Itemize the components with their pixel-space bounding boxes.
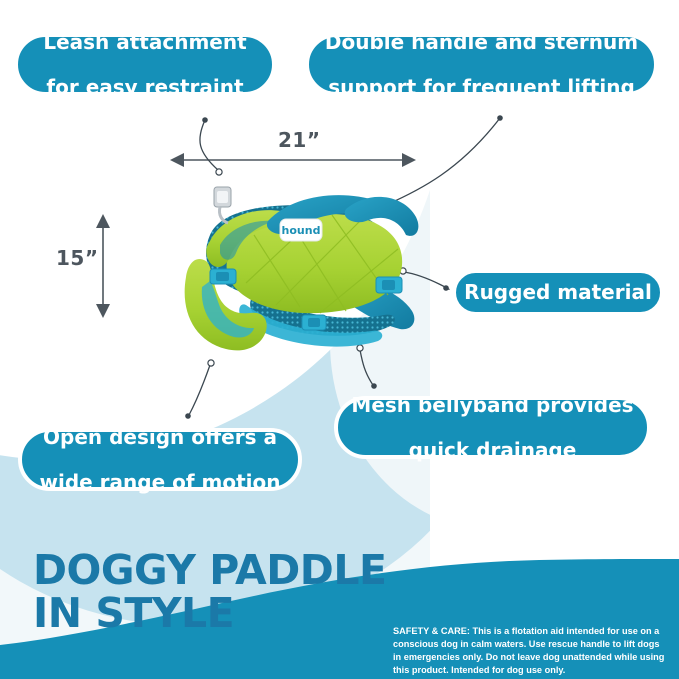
callout-mesh-line2: quick drainage xyxy=(345,439,639,461)
callout-mesh-line1: Mesh bellyband provides xyxy=(345,394,639,416)
callout-open-line2: wide range of motion xyxy=(34,471,287,493)
callout-double-handle[interactable]: Double handle and sternum support for fr… xyxy=(305,33,658,96)
callout-rugged-material[interactable]: Rugged material xyxy=(452,269,664,316)
callout-leash-line1: Leash attachment xyxy=(37,31,252,53)
headline-line2: IN STYLE xyxy=(33,592,386,635)
product-buckle-left xyxy=(210,269,236,284)
callout-open-line1: Open design offers a xyxy=(34,426,287,448)
width-dimension-label: 21” xyxy=(278,128,320,152)
callout-handle-line2: support for frequent lifting xyxy=(319,76,644,98)
height-dimension-label: 15” xyxy=(56,246,98,270)
safety-and-care-text: SAFETY & CARE: This is a flotation aid i… xyxy=(393,625,665,677)
product-buckle-right xyxy=(376,277,402,293)
callout-rugged-line1: Rugged material xyxy=(458,281,658,303)
page-headline: DOGGY PADDLE IN STYLE xyxy=(33,549,386,634)
callout-mesh-bellyband[interactable]: Mesh bellyband provides quick drainage xyxy=(334,396,651,459)
callout-leash-line2: for easy restraint xyxy=(37,76,252,98)
callout-handle-line1: Double handle and sternum xyxy=(319,31,644,53)
callout-leash-attachment[interactable]: Leash attachment for easy restraint xyxy=(14,33,276,96)
infographic-canvas: 21” 15” xyxy=(0,0,679,679)
product-buckle-bottom xyxy=(302,315,326,330)
svg-text:hound: hound xyxy=(282,224,321,237)
product-image-dog-life-jacket: hound xyxy=(150,165,430,380)
product-brand-badge: hound xyxy=(280,219,322,241)
callout-open-design[interactable]: Open design offers a wide range of motio… xyxy=(18,428,302,491)
headline-line1: DOGGY PADDLE xyxy=(33,549,386,592)
